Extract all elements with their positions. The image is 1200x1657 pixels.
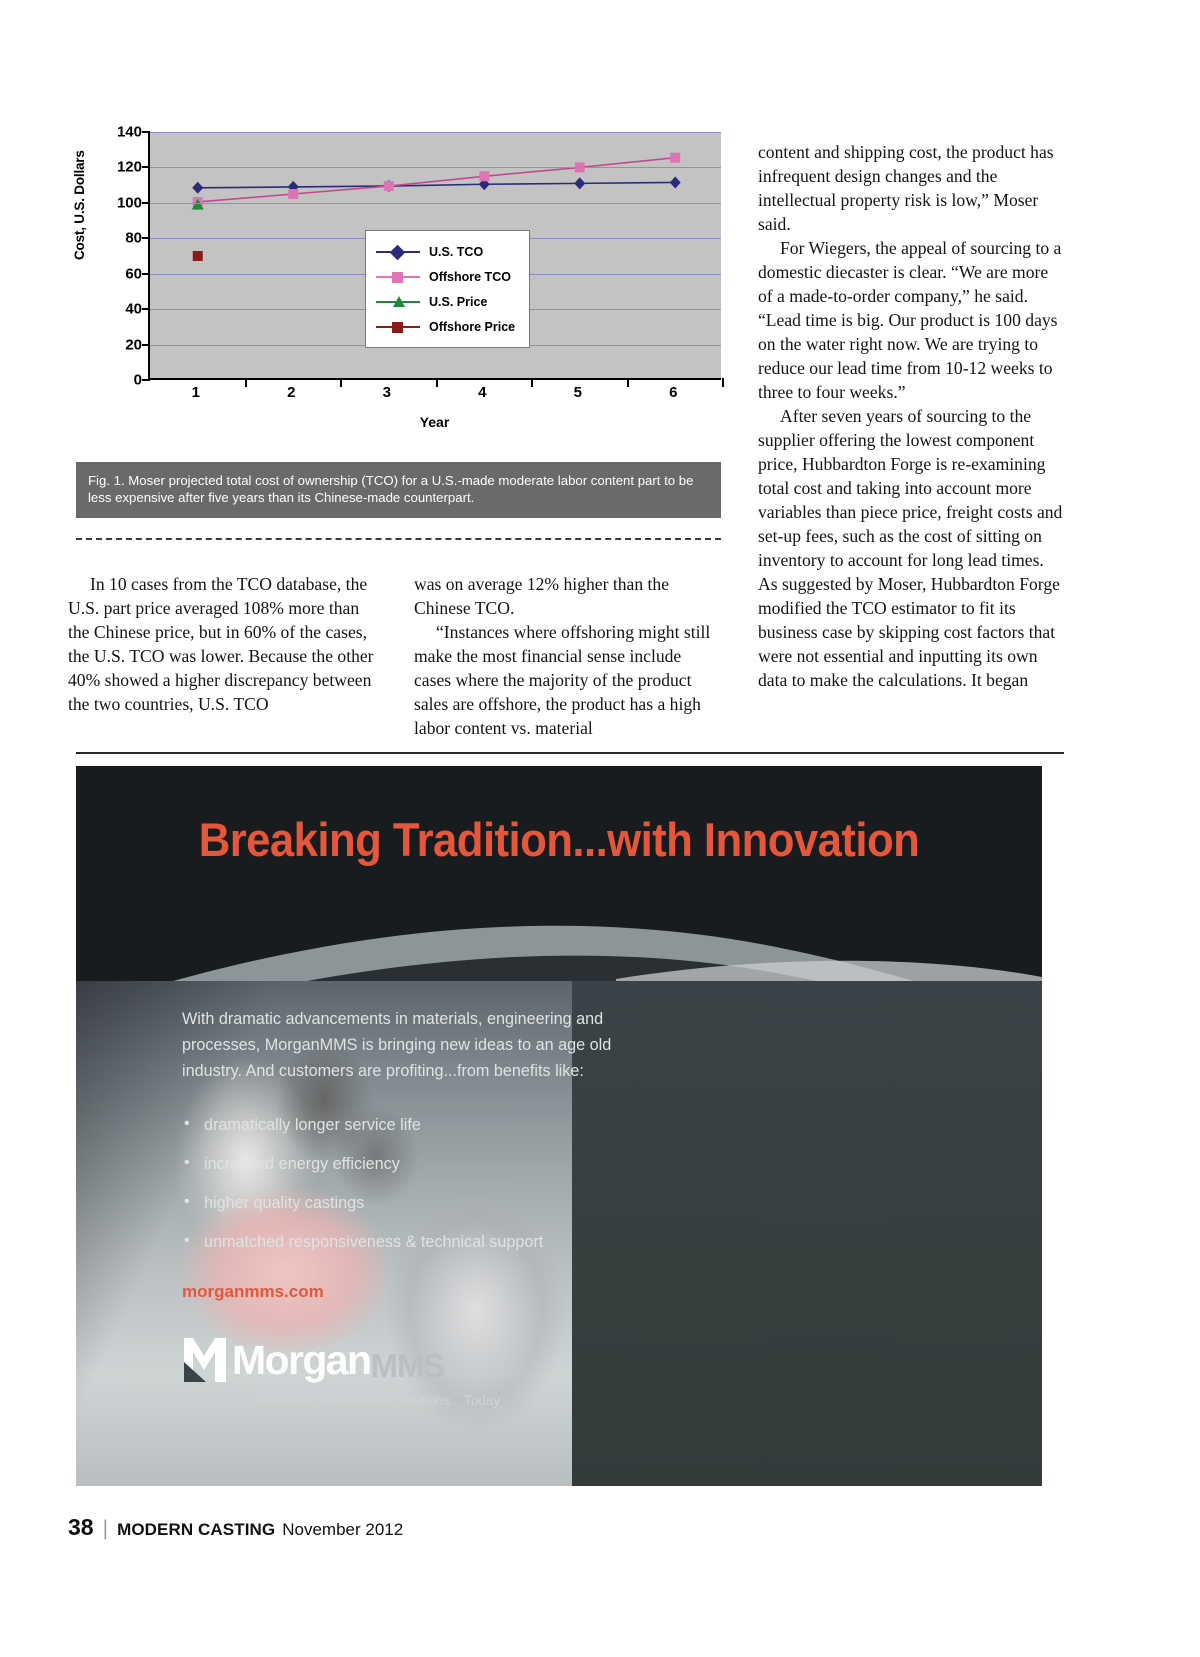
chart-y-axis-title: Cost, U.S. Dollars xyxy=(72,150,87,260)
data-point-marker xyxy=(192,182,203,194)
data-point-marker xyxy=(670,153,680,163)
data-point-marker xyxy=(384,181,394,191)
figure-caption: Fig. 1. Moser projected total cost of ow… xyxy=(76,462,721,518)
y-axis-tick xyxy=(142,166,150,168)
y-tick-label: 140 xyxy=(117,124,142,141)
tco-line-chart: Cost, U.S. Dollars 020406080100120140 U.… xyxy=(76,132,721,432)
x-axis-tick xyxy=(722,378,724,387)
data-point-marker xyxy=(479,171,489,181)
chart-y-tick-labels: 020406080100120140 xyxy=(100,132,146,380)
chart-x-axis-title: Year xyxy=(148,414,721,430)
gridline xyxy=(150,203,721,204)
legend-label-offshore-price: Offshore Price xyxy=(429,320,515,334)
paragraph: content and shipping cost, the product h… xyxy=(758,140,1064,236)
y-axis-tick xyxy=(142,379,150,381)
legend-item-offshore-tco: Offshore TCO xyxy=(376,264,515,289)
ad-headline: Breaking Tradition...with Innovation xyxy=(110,812,1008,867)
footer-publication-name: MODERN CASTING xyxy=(117,1520,275,1540)
ad-benefit-item: higher quality castings xyxy=(182,1194,622,1213)
logo-text-morgan: Morgan xyxy=(232,1340,370,1381)
y-tick-label: 100 xyxy=(117,194,142,211)
paragraph: In 10 cases from the TCO database, the U… xyxy=(68,572,374,716)
page-footer: 38 | MODERN CASTING November 2012 xyxy=(68,1514,403,1541)
paragraph: “Instances where offshoring might still … xyxy=(414,620,720,740)
legend-item-us-tco: U.S. TCO xyxy=(376,239,515,264)
legend-item-offshore-price: Offshore Price xyxy=(376,314,515,339)
data-point-marker xyxy=(670,176,681,188)
y-axis-tick xyxy=(142,273,150,275)
figure-1: Cost, U.S. Dollars 020406080100120140 U.… xyxy=(76,132,721,432)
article-column-3: content and shipping cost, the product h… xyxy=(758,140,1064,692)
x-tick-label: 5 xyxy=(574,384,582,401)
gridline xyxy=(150,132,721,133)
data-point-marker xyxy=(193,251,203,261)
chart-x-tick-labels: 123456 xyxy=(148,384,721,410)
series-line xyxy=(198,182,676,187)
legend-key-offshore-price xyxy=(376,320,420,334)
logo-text-mms: MMS xyxy=(370,1349,444,1384)
y-tick-label: 0 xyxy=(134,372,142,389)
data-point-marker xyxy=(574,177,585,189)
y-axis-tick xyxy=(142,202,150,204)
legend-key-us-price xyxy=(376,295,420,309)
ad-benefit-item: unmatched responsiveness & technical sup… xyxy=(182,1233,622,1252)
y-axis-tick xyxy=(142,131,150,133)
legend-item-us-price: U.S. Price xyxy=(376,289,515,314)
series-line xyxy=(198,158,676,202)
y-axis-tick xyxy=(142,344,150,346)
ad-website-link[interactable]: morganmms.com xyxy=(182,1282,324,1302)
ad-body-copy: With dramatic advancements in materials,… xyxy=(182,1006,622,1085)
paragraph: For Wiegers, the appeal of sourcing to a… xyxy=(758,236,1064,404)
y-tick-label: 80 xyxy=(125,230,142,247)
ad-benefit-list: dramatically longer service lifeincrease… xyxy=(182,1116,622,1272)
gridline xyxy=(150,167,721,168)
x-tick-label: 3 xyxy=(383,384,391,401)
chart-legend: U.S. TCO Offshore TCO xyxy=(365,230,530,348)
morgan-m-mark-icon xyxy=(182,1336,228,1384)
footer-issue-date: November 2012 xyxy=(282,1520,403,1540)
legend-key-offshore-tco xyxy=(376,270,420,284)
x-tick-label: 1 xyxy=(192,384,200,401)
ad-benefit-item: increased energy efficiency xyxy=(182,1155,622,1174)
legend-key-us-tco xyxy=(376,245,420,259)
paragraph: was on average 12% higher than the Chine… xyxy=(414,572,720,620)
footer-separator: | xyxy=(103,1517,108,1541)
x-tick-label: 4 xyxy=(478,384,486,401)
advertisement[interactable]: Breaking Tradition...with Innovation Wit… xyxy=(76,766,1042,1486)
y-tick-label: 20 xyxy=(125,336,142,353)
logo-tagline: Innovating Tomorrow's Solutions... Today xyxy=(182,1393,500,1408)
article-column-1: In 10 cases from the TCO database, the U… xyxy=(68,572,374,716)
horizontal-divider xyxy=(76,752,1064,754)
y-axis-tick xyxy=(142,237,150,239)
y-axis-tick xyxy=(142,308,150,310)
dashed-divider xyxy=(76,538,721,540)
y-tick-label: 60 xyxy=(125,265,142,282)
ad-benefit-item: dramatically longer service life xyxy=(182,1116,622,1135)
data-point-marker xyxy=(288,189,298,199)
y-tick-label: 120 xyxy=(117,159,142,176)
paragraph: After seven years of sourcing to the sup… xyxy=(758,404,1064,692)
ad-text-panel xyxy=(572,981,1042,1486)
legend-label-offshore-tco: Offshore TCO xyxy=(429,270,511,284)
y-tick-label: 40 xyxy=(125,301,142,318)
legend-label-us-price: U.S. Price xyxy=(429,295,487,309)
x-tick-label: 6 xyxy=(669,384,677,401)
magazine-page: Cost, U.S. Dollars 020406080100120140 U.… xyxy=(0,0,1200,1657)
legend-label-us-tco: U.S. TCO xyxy=(429,245,483,259)
footer-page-number: 38 xyxy=(68,1514,94,1541)
chart-plot-area: U.S. TCO Offshore TCO xyxy=(148,132,721,380)
morgan-logo: Morgan MMS Innovating Tomorrow's Solutio… xyxy=(182,1336,522,1408)
article-column-2: was on average 12% higher than the Chine… xyxy=(414,572,720,740)
x-tick-label: 2 xyxy=(287,384,295,401)
